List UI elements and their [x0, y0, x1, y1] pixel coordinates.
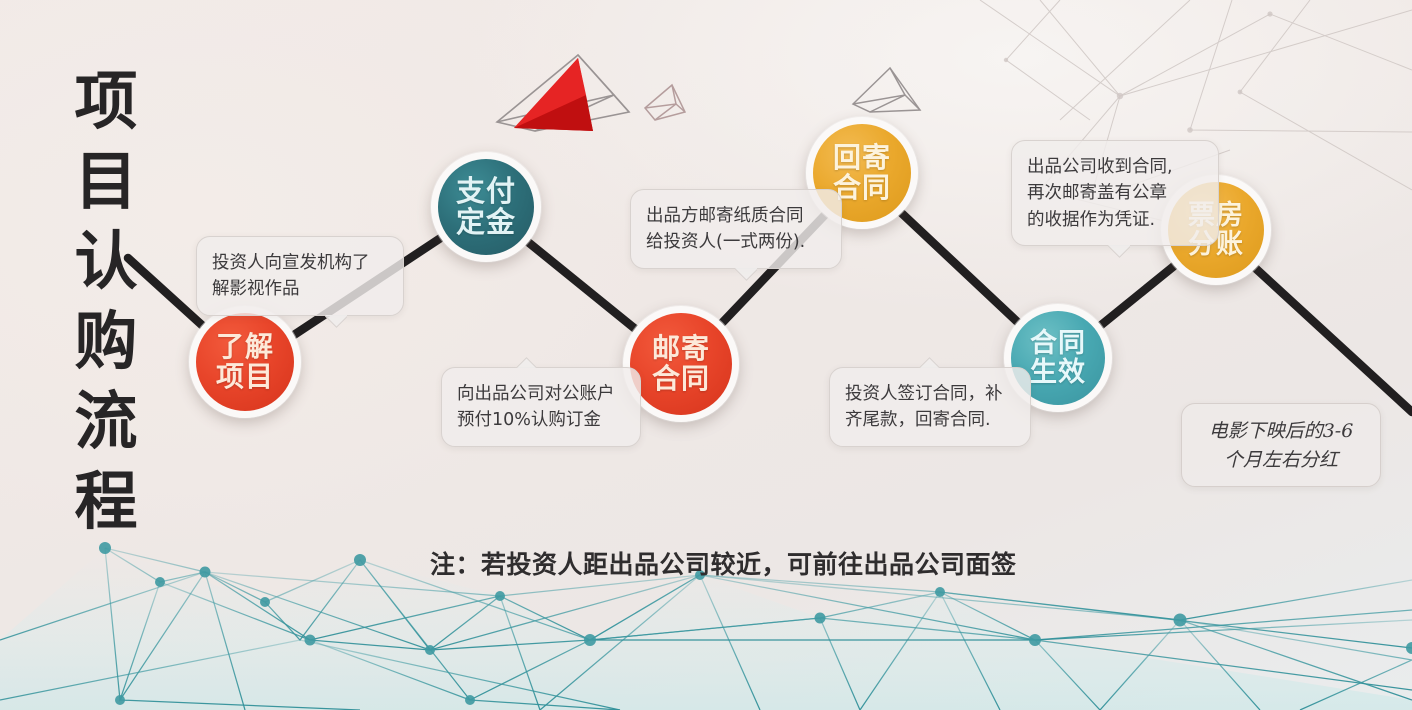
callout-tail	[918, 352, 940, 368]
callout-text-line: 再次邮寄盖有公章	[1027, 180, 1203, 206]
callout-contract-effective: 出品公司收到合同,再次邮寄盖有公章的收据作为凭证.	[1011, 140, 1219, 246]
callouts-layer: 投资人向宣发机构了解影视作品向出品公司对公账户预付10%认购订金出品方邮寄纸质合…	[0, 0, 1412, 710]
callout-text-line: 解影视作品	[212, 276, 388, 302]
callout-pay-deposit: 向出品公司对公账户预付10%认购订金	[441, 367, 641, 447]
callout-text: 投资人向宣发机构了解影视作品	[212, 250, 388, 303]
callout-text-line: 投资人向宣发机构了	[212, 250, 388, 276]
callout-text: 出品方邮寄纸质合同给投资人(一式两份).	[646, 203, 826, 256]
callout-text: 向出品公司对公账户预付10%认购订金	[457, 381, 625, 434]
callout-text-line: 投资人签订合同，补	[845, 381, 1015, 407]
callout-text-line: 个月左右分红	[1197, 446, 1365, 475]
callout-understand-project: 投资人向宣发机构了解影视作品	[196, 236, 404, 316]
callout-text: 投资人签订合同，补齐尾款，回寄合同.	[845, 381, 1015, 434]
callout-tail	[735, 268, 757, 284]
callout-text-line: 的收据作为凭证.	[1027, 207, 1203, 233]
callout-tail	[325, 315, 347, 331]
callout-text-line: 出品公司收到合同,	[1027, 154, 1203, 180]
callout-text-line: 电影下映后的3-6	[1197, 417, 1365, 446]
callout-text-line: 齐尾款，回寄合同.	[845, 407, 1015, 433]
callout-text-line: 向出品公司对公账户	[457, 381, 625, 407]
callout-text: 电影下映后的3-6个月左右分红	[1197, 417, 1365, 474]
footnote: 注：若投资人距出品公司较近，可前往出品公司面签	[430, 545, 1017, 581]
infographic-canvas: 项 目 认 购 流 程 了解项目支付定金邮寄合同回寄合同合同生效票房分账 投资人…	[0, 0, 1412, 710]
callout-text-line: 给投资人(一式两份).	[646, 229, 826, 255]
callout-mail-contract: 出品方邮寄纸质合同给投资人(一式两份).	[630, 189, 842, 269]
callout-box-office-split: 电影下映后的3-6个月左右分红	[1181, 403, 1381, 487]
callout-tail	[1108, 245, 1130, 261]
callout-return-contract: 投资人签订合同，补齐尾款，回寄合同.	[829, 367, 1031, 447]
callout-text-line: 出品方邮寄纸质合同	[646, 203, 826, 229]
callout-text-line: 预付10%认购订金	[457, 407, 625, 433]
callout-tail	[515, 352, 537, 368]
callout-text: 出品公司收到合同,再次邮寄盖有公章的收据作为凭证.	[1027, 154, 1203, 233]
